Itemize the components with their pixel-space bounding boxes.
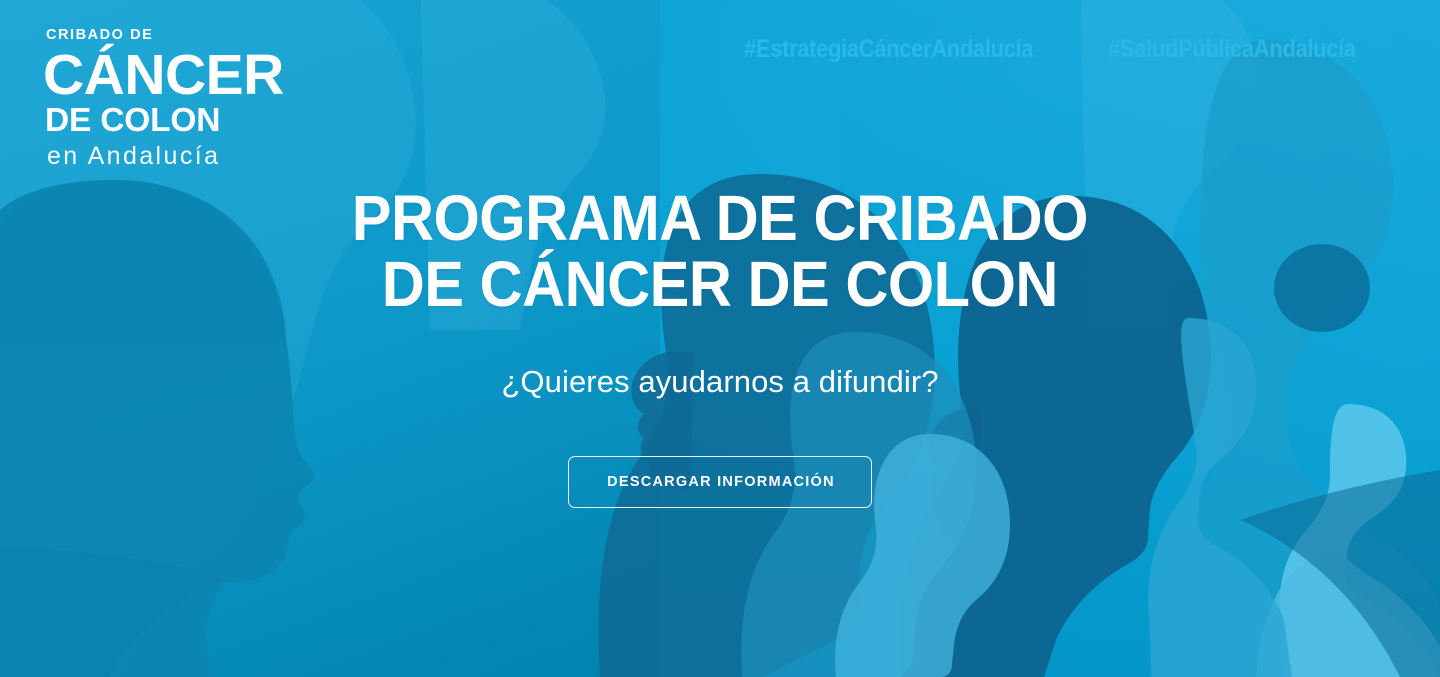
hero-subtitle: ¿Quieres ayudarnos a difundir? bbox=[501, 364, 938, 400]
hashtag-list: #EstrategiaCáncerAndalucía #SaludPública… bbox=[744, 35, 1390, 64]
hashtag-salud-publica-andalucia[interactable]: #SaludPúblicaAndalucía bbox=[1108, 35, 1356, 64]
logo-line-de-colon: DE COLON bbox=[45, 104, 284, 138]
cta-wrapper: DESCARGAR INFORMACIÓN bbox=[568, 456, 872, 508]
logo-line-en-andalucia: en Andalucía bbox=[47, 144, 284, 169]
hashtag-estrategia-cancer-andalucia[interactable]: #EstrategiaCáncerAndalucía bbox=[744, 35, 1033, 64]
hero-banner: CRIBADO DE CÁNCER DE COLON en Andalucía … bbox=[0, 0, 1440, 677]
page-title: PROGRAMA DE CRIBADO DE CÁNCER DE COLON bbox=[352, 186, 1088, 318]
logo-line-cribado-de: CRIBADO DE bbox=[46, 28, 284, 43]
hero-content: PROGRAMA DE CRIBADO DE CÁNCER DE COLON ¿… bbox=[0, 186, 1440, 508]
campaign-logo[interactable]: CRIBADO DE CÁNCER DE COLON en Andalucía bbox=[46, 28, 284, 169]
logo-line-cancer: CÁNCER bbox=[43, 49, 284, 101]
download-information-button[interactable]: DESCARGAR INFORMACIÓN bbox=[568, 456, 872, 508]
